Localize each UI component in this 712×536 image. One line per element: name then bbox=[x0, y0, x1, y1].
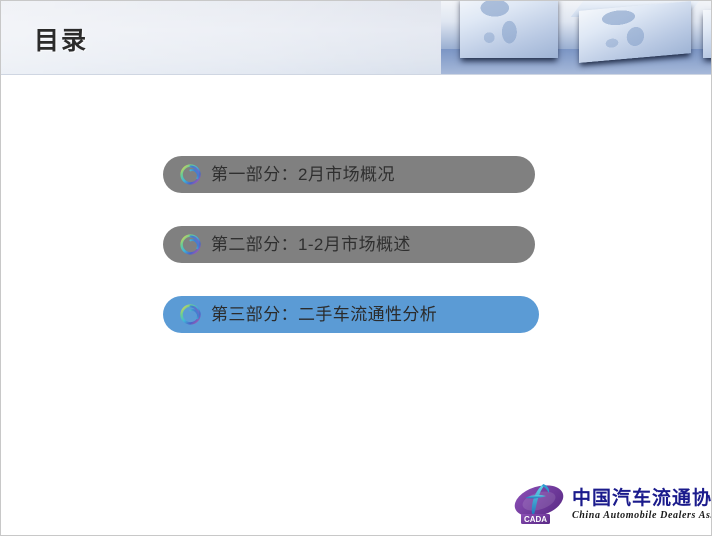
toc-item-label: 第一部分：2月市场概况 bbox=[211, 166, 395, 183]
logo-abbreviation: CADA bbox=[524, 515, 547, 524]
page-title: 目录 bbox=[34, 29, 88, 54]
slide-header: 目录 bbox=[1, 1, 712, 75]
logo-text-block: 中国汽车流通协会 China Automobile Dealers Associ… bbox=[572, 489, 712, 521]
cube-shape-left bbox=[460, 1, 558, 58]
toc-item-label: 第三部分：二手车流通性分析 bbox=[211, 306, 437, 323]
rainbow-swirl-icon bbox=[179, 303, 202, 326]
logo-name-cn: 中国汽车流通协会 bbox=[572, 489, 712, 509]
slide-canvas: 目录 bbox=[0, 0, 712, 536]
toc-item-part-2[interactable]: 第二部分：1-2月市场概述 bbox=[163, 226, 535, 263]
logo-name-en: China Automobile Dealers Association bbox=[572, 510, 712, 522]
toc-item-label: 第二部分：1-2月市场概述 bbox=[211, 236, 411, 253]
rainbow-swirl-icon bbox=[179, 163, 202, 186]
toc-item-part-1[interactable]: 第一部分：2月市场概况 bbox=[163, 156, 535, 193]
cube-shape-middle bbox=[579, 1, 691, 63]
cada-association-logo: CADA 中国汽车流通协会 China Automobile Dealers A… bbox=[512, 479, 702, 531]
toc-item-part-3[interactable]: 第三部分：二手车流通性分析 bbox=[163, 296, 539, 333]
blue-cubes-world-map-image bbox=[441, 1, 712, 75]
cube-shape-right bbox=[703, 10, 712, 58]
rainbow-swirl-icon bbox=[179, 233, 202, 256]
table-of-contents-list: 第一部分：2月市场概况 第二部分：1-2月市场概述 第三部分：二手车流通性分析 bbox=[163, 156, 543, 366]
cada-logo-icon: CADA bbox=[512, 481, 568, 529]
